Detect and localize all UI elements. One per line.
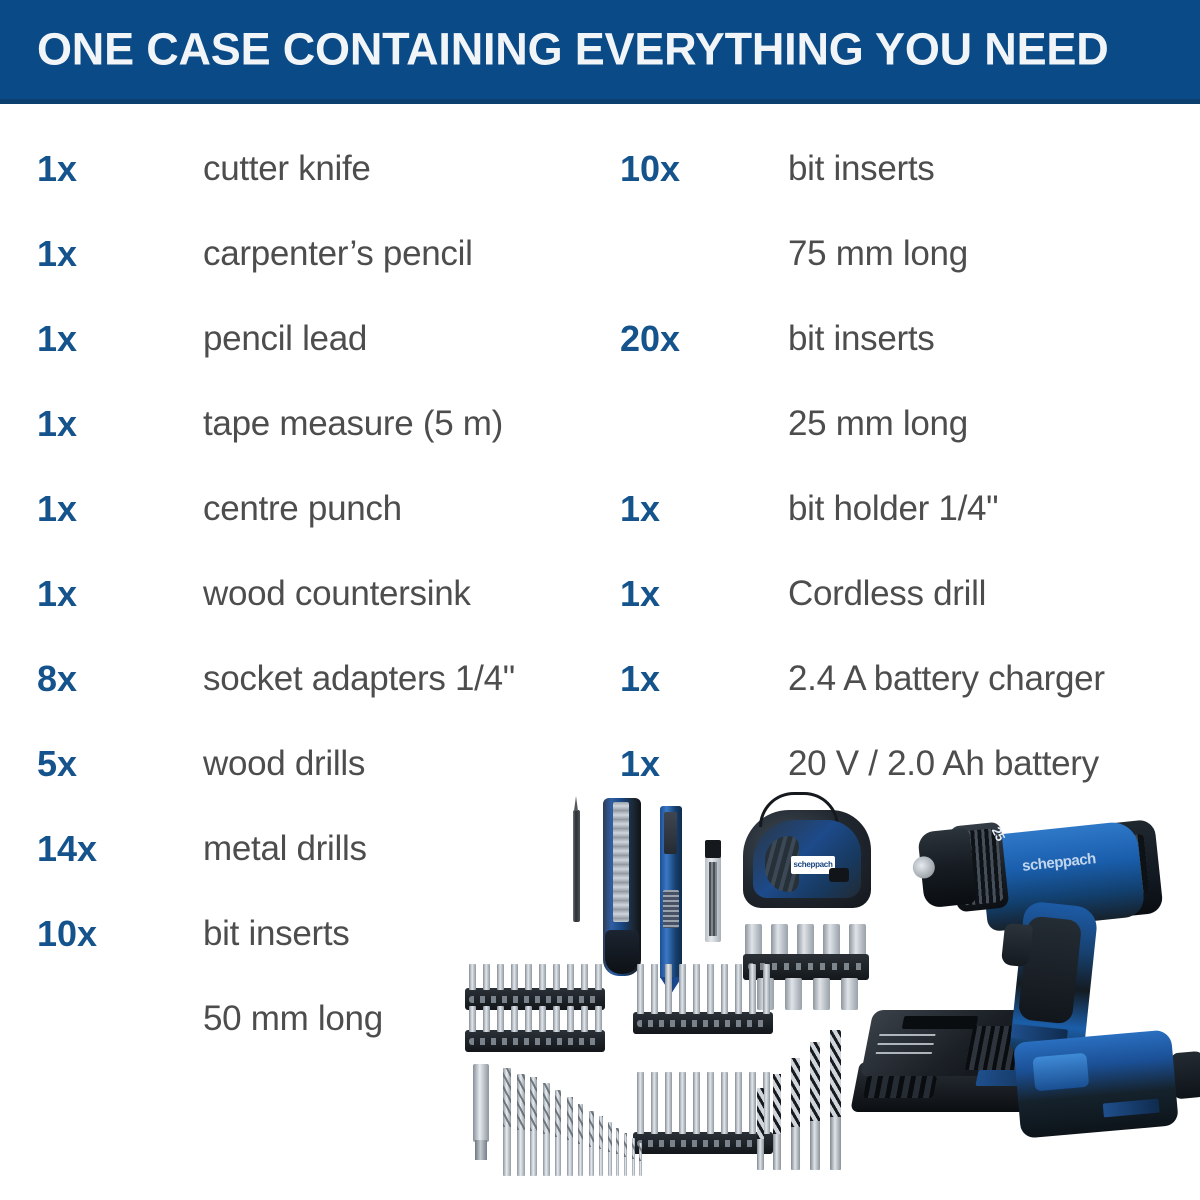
bit-insert [511, 1006, 518, 1032]
bit-insert [581, 1006, 588, 1032]
bit-insert [525, 964, 532, 990]
list-item: 1x 2.4 A battery charger [600, 636, 1200, 721]
bit-insert [539, 1006, 546, 1032]
list-item: 1x cutter knife [0, 126, 600, 211]
bit-insert-strip [465, 1030, 605, 1052]
wood-drill-bit [791, 1058, 800, 1170]
metal-drill-bit [589, 1111, 594, 1176]
bit-insert [469, 1006, 476, 1032]
list-item: 1x bit holder 1/4" [600, 466, 1200, 551]
bit-insert [693, 1072, 700, 1134]
item-description: metal drills [203, 806, 367, 891]
bit-insert [483, 1006, 490, 1032]
list-item: 8x socket adapters 1/4" [0, 636, 600, 721]
list-item-continuation: 25 mm long [600, 381, 1200, 466]
socket-adapter [771, 924, 788, 956]
bit-insert [525, 1006, 532, 1032]
metal-drill-bit [578, 1104, 583, 1176]
item-quantity: 1x [37, 466, 77, 551]
pencil-lead-tube-image [705, 856, 721, 942]
bit-insert [693, 964, 700, 1014]
bit-insert [581, 964, 588, 990]
item-description: 2.4 A battery charger [788, 636, 1105, 721]
metal-drill-bit [567, 1097, 573, 1176]
pencil-knurl [663, 890, 679, 928]
item-description: bit inserts [788, 296, 934, 381]
list-item: 1x tape measure (5 m) [0, 381, 600, 466]
drill-battery-pack [1013, 1029, 1179, 1138]
list-item: 20x bit inserts [600, 296, 1200, 381]
bit-insert [567, 1006, 574, 1032]
item-description: socket adapters 1/4" [203, 636, 515, 721]
item-quantity: 1x [37, 551, 77, 636]
item-quantity: 1x [37, 296, 77, 381]
metal-drills-image [503, 1066, 663, 1176]
metal-drill-bit [555, 1090, 561, 1176]
bit-insert [707, 964, 714, 1014]
bit-insert [735, 964, 742, 1014]
bit-insert [665, 1072, 672, 1134]
socket-adapters-image [743, 920, 869, 1010]
bit-holder-image [473, 1064, 489, 1142]
item-description: bit inserts [203, 891, 349, 976]
item-description: pencil lead [203, 296, 367, 381]
bit-insert [497, 1006, 504, 1032]
bit-insert [469, 964, 476, 990]
pencil-clip [664, 812, 677, 854]
cutter-knife-image [603, 798, 641, 976]
battery-brand-label [1103, 1099, 1160, 1118]
tape-measure-lock-button [829, 868, 849, 882]
metal-drill-bit [599, 1116, 603, 1176]
item-description: bit inserts [788, 126, 934, 211]
metal-drill-bit [624, 1133, 627, 1176]
item-quantity: 1x [37, 126, 77, 211]
bit-insert [735, 1072, 742, 1134]
list-item: 1x wood countersink [0, 551, 600, 636]
bit-insert [567, 964, 574, 990]
list-item-continuation: 75 mm long [600, 211, 1200, 296]
socket-adapter [785, 978, 802, 1010]
bit-insert [763, 964, 770, 1014]
item-description: cutter knife [203, 126, 371, 211]
bit-insert [637, 964, 644, 1014]
socket-adapter [849, 924, 866, 956]
wood-drill-bit [830, 1030, 841, 1170]
list-item: 1x Cordless drill [600, 551, 1200, 636]
right-item-list: 10x bit inserts 75 mm long 20x bit inser… [600, 126, 1200, 806]
wood-drills-image [753, 1030, 843, 1170]
product-photo: scheppach [455, 780, 1200, 1200]
item-quantity: 8x [37, 636, 77, 721]
item-description: carpenter’s pencil [203, 211, 473, 296]
item-description: Cordless drill [788, 551, 986, 636]
item-quantity: 5x [37, 721, 77, 806]
tape-measure-image: scheppach [743, 810, 871, 908]
list-item: 1x centre punch [0, 466, 600, 551]
bit-insert [749, 964, 756, 1014]
socket-adapter-strip [743, 954, 869, 980]
metal-drill-bit [530, 1077, 537, 1176]
socket-adapter [813, 978, 830, 1010]
bit-insert [721, 964, 728, 1014]
drill-chuck [917, 827, 977, 908]
bit-insert [679, 964, 686, 1014]
item-description: 25 mm long [788, 381, 968, 466]
bit-insert-strip-75mm [633, 1012, 773, 1034]
item-description: wood drills [203, 721, 365, 806]
cordless-drill-image: scheppach 25 [925, 800, 1200, 1160]
wood-drill-bit [773, 1074, 781, 1170]
item-description: bit holder 1/4" [788, 466, 998, 551]
list-item: 1x carpenter’s pencil [0, 211, 600, 296]
item-quantity: 10x [37, 891, 97, 976]
knife-grip [605, 930, 639, 974]
centre-punch-image [573, 810, 580, 922]
page-title: ONE CASE CONTAINING EVERYTHING YOU NEED [37, 26, 1109, 71]
item-quantity: 10x [620, 126, 680, 211]
socket-adapter [797, 924, 814, 956]
metal-drill-bit [608, 1122, 612, 1176]
bit-insert [539, 964, 546, 990]
wood-drill-bit [810, 1042, 820, 1170]
metal-drill-bit [503, 1068, 511, 1176]
list-item: 1x pencil lead [0, 296, 600, 381]
bit-insert [679, 1072, 686, 1134]
bit-insert [651, 964, 658, 1014]
item-quantity: 1x [37, 381, 77, 466]
metal-drill-bit [517, 1074, 525, 1176]
bit-insert [497, 964, 504, 990]
item-description: centre punch [203, 466, 402, 551]
item-description: wood countersink [203, 551, 471, 636]
drill-trigger [1001, 923, 1033, 968]
bit-insert [721, 1072, 728, 1134]
bit-insert [707, 1072, 714, 1134]
bit-insert [595, 1006, 602, 1032]
metal-drill-bit [632, 1138, 635, 1176]
socket-adapter [841, 978, 858, 1010]
page-title-text: ONE CASE CONTAINING EVERYTHING YOU NEED [37, 23, 1109, 74]
carpenters-pencil-image [660, 806, 682, 978]
bit-insert [665, 964, 672, 1014]
bit-insert [483, 964, 490, 990]
item-description: 75 mm long [788, 211, 968, 296]
bit-insert [595, 964, 602, 990]
bit-insert [553, 964, 560, 990]
item-quantity: 1x [620, 636, 660, 721]
wood-drill-bit [757, 1088, 764, 1170]
bit-insert [511, 964, 518, 990]
item-description: tape measure (5 m) [203, 381, 503, 466]
item-quantity: 1x [37, 211, 77, 296]
pencil-lead [709, 862, 717, 936]
socket-adapter [745, 924, 762, 956]
infographic-page: ONE CASE CONTAINING EVERYTHING YOU NEED … [0, 0, 1200, 1200]
list-item: 10x bit inserts [600, 126, 1200, 211]
socket-adapter [823, 924, 840, 956]
item-quantity: 1x [620, 551, 660, 636]
header-banner: ONE CASE CONTAINING EVERYTHING YOU NEED [0, 0, 1200, 104]
item-quantity: 1x [620, 466, 660, 551]
item-quantity: 20x [620, 296, 680, 381]
bit-insert [553, 1006, 560, 1032]
metal-drill-bit [639, 1143, 642, 1176]
item-description: 50 mm long [203, 976, 383, 1061]
item-quantity: 14x [37, 806, 97, 891]
metal-drill-bit [543, 1083, 550, 1176]
knife-blade [613, 802, 629, 922]
tape-measure-body: scheppach [753, 820, 861, 898]
metal-drill-bit [616, 1128, 619, 1176]
